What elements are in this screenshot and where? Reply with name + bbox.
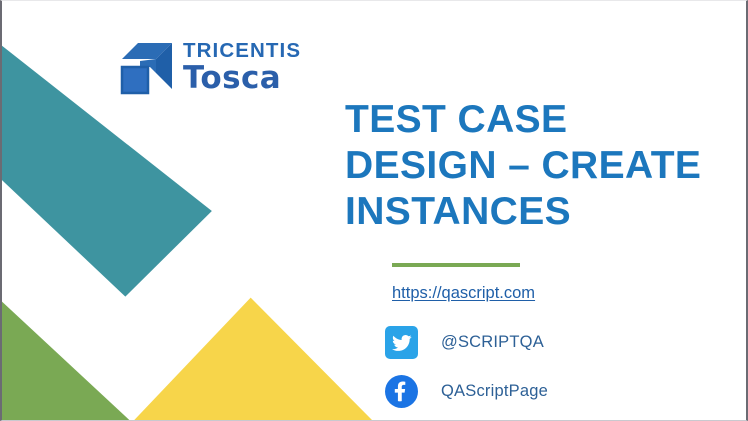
presentation-slide: TRICENTIS Tosca TEST CASE DESIGN – CREAT…: [0, 0, 748, 421]
title-line-1: TEST CASE: [345, 98, 567, 141]
logo-wordmark-tricentis: TRICENTIS: [183, 41, 301, 62]
facebook-icon[interactable]: [385, 375, 418, 408]
tricentis-arrow-logo-icon: [120, 39, 174, 97]
social-row-twitter[interactable]: @SCRIPTQA: [385, 326, 737, 359]
title-line-2: DESIGN – CREATE: [345, 144, 701, 187]
title-line-3: INSTANCES: [345, 190, 571, 233]
social-row-facebook[interactable]: QAScriptPage: [385, 375, 737, 408]
slide-title: TEST CASE DESIGN – CREATE INSTANCES: [345, 97, 737, 235]
tricentis-tosca-logo: TRICENTIS Tosca: [120, 39, 301, 97]
logo-wordmark-tosca: Tosca: [183, 63, 301, 94]
title-divider: [392, 263, 520, 267]
twitter-handle: @SCRIPTQA: [441, 333, 544, 352]
social-links: @SCRIPTQA QAScriptPage: [385, 326, 737, 408]
facebook-page-name: QAScriptPage: [441, 382, 548, 401]
green-triangle: [2, 302, 129, 420]
twitter-icon[interactable]: [385, 326, 418, 359]
yellow-triangle: [134, 298, 372, 420]
website-link[interactable]: https://qascript.com: [392, 284, 535, 303]
slide-content: TEST CASE DESIGN – CREATE INSTANCES http…: [345, 97, 737, 408]
